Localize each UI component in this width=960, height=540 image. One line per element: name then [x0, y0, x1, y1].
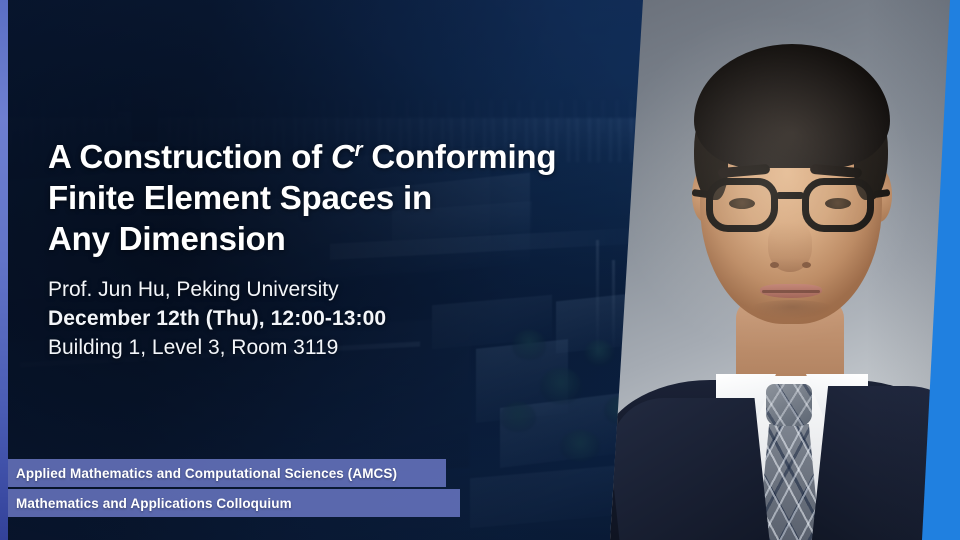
banner-series-name: Mathematics and Applications Colloquium: [8, 489, 460, 517]
talk-details: Prof. Jun Hu, Peking University December…: [48, 275, 608, 362]
talk-datetime: December 12th (Thu), 12:00-13:00: [48, 304, 608, 333]
title-line1-suffix: Conforming: [362, 138, 556, 175]
eyeglass-bridge: [776, 192, 804, 199]
banner-series-label: Mathematics and Applications Colloquium: [16, 496, 292, 511]
eyeglass-lens-left: [706, 178, 778, 232]
title-line1-prefix: A Construction of: [48, 138, 331, 175]
math-base: C: [331, 138, 355, 175]
eyeglass-lens-right: [802, 178, 874, 232]
talk-location: Building 1, Level 3, Room 3119: [48, 333, 608, 362]
banner-program-name: Applied Mathematics and Computational Sc…: [8, 459, 446, 487]
necktie-knot-pattern: [766, 384, 812, 426]
title-math-symbol: Cr: [331, 138, 362, 175]
speaker-name-affiliation: Prof. Jun Hu, Peking University: [48, 275, 608, 304]
mouth-line: [762, 290, 820, 293]
banner-program-label: Applied Mathematics and Computational Sc…: [16, 466, 397, 481]
event-announcement-slide: A Construction of Cr ConformingFinite El…: [0, 0, 960, 540]
title-line2: Finite Element Spaces in: [48, 179, 432, 216]
nostril-right: [802, 262, 811, 268]
talk-title: A Construction of Cr ConformingFinite El…: [48, 136, 608, 259]
chin-shadow: [736, 300, 848, 334]
nostril-left: [770, 262, 779, 268]
title-line3: Any Dimension: [48, 220, 286, 257]
